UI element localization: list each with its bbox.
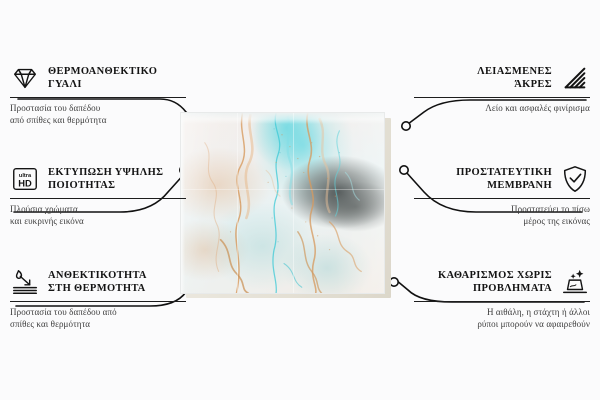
- feature-title: ΛΕΙΑΣΜΕΝΕΣ ΆΚΡΕΣ: [477, 65, 552, 91]
- marble-veins: [181, 113, 384, 293]
- feature-polished-edges[interactable]: ΛΕΙΑΣΜΕΝΕΣ ΆΚΡΕΣ Λείο και ασφαλές φινίρι…: [414, 62, 590, 114]
- infographic-stage: ΘΕΡΜΟΑΝΘΕΚΤΙΚΟ ΓΥΑΛΙ Προστασία του δαπέδ…: [0, 0, 600, 400]
- product-panel[interactable]: [180, 112, 385, 294]
- feature-divider: [10, 198, 186, 199]
- svg-text:HD: HD: [18, 179, 32, 189]
- sponge-sparkle-icon: [560, 267, 590, 297]
- feature-title: ΠΡΟΣΤΑΤΕΥΤΙΚΗ ΜΕΜΒΡΑΝΗ: [456, 166, 552, 192]
- feature-heat-resistant-glass[interactable]: ΘΕΡΜΟΑΝΘΕΚΤΙΚΟ ΓΥΑΛΙ Προστασία του δαπέδ…: [10, 62, 186, 126]
- feature-body: Προστασία του δαπέδου από σπίθες και θερ…: [10, 306, 186, 330]
- connector-node-right-1: [402, 122, 410, 130]
- ultra-hd-icon: ultra HD: [10, 164, 40, 194]
- feature-easy-cleaning[interactable]: ΚΑΘΑΡΙΣΜΟΣ ΧΩΡΙΣ ΠΡΟΒΛΗΜΑΤΑ Η αιθάλη, η …: [414, 266, 590, 330]
- feature-title: ΚΑΘΑΡΙΣΜΟΣ ΧΩΡΙΣ ΠΡΟΒΛΗΜΑΤΑ: [438, 269, 552, 295]
- feature-title: ΕΚΤΥΠΩΣΗ ΥΨΗΛΗΣ ΠΟΙΟΤΗΤΑΣ: [48, 166, 163, 192]
- feature-body: Προστατεύει το πίσω μέρος της εικόνας: [414, 203, 590, 227]
- panel-reflection-line-2: [293, 113, 294, 293]
- panel-reflection-line-1: [237, 113, 238, 293]
- hatched-triangle-icon: [560, 63, 590, 93]
- feature-title: ΑΝΘΕΚΤΙΚΟΤΗΤΑ ΣΤΗ ΘΕΡΜΟΤΗΤΑ: [48, 269, 147, 295]
- feature-divider: [414, 198, 590, 199]
- feature-body: Λείο και ασφαλές φινίρισμα: [414, 102, 590, 114]
- connector-node-right-3: [390, 278, 398, 286]
- feature-divider: [10, 301, 186, 302]
- feature-divider: [414, 301, 590, 302]
- panel-glass-front: [180, 112, 385, 294]
- feature-body: Η αιθάλη, η στάχτη ή άλλοι ρύποι μπορούν…: [414, 306, 590, 330]
- connector-node-right-2: [400, 166, 408, 174]
- feature-body: Προστασία του δαπέδου από σπίθες και θερ…: [10, 102, 186, 126]
- feature-divider: [10, 97, 186, 98]
- shield-check-icon: [560, 164, 590, 194]
- feature-body: Πλούσια χρώματα και ευκρινής εικόνα: [10, 203, 186, 227]
- feature-title: ΘΕΡΜΟΑΝΘΕΚΤΙΚΟ ΓΥΑΛΙ: [48, 65, 157, 91]
- feature-high-quality-print[interactable]: ultra HD ΕΚΤΥΠΩΣΗ ΥΨΗΛΗΣ ΠΟΙΟΤΗΤΑΣ Πλούσ…: [10, 163, 186, 227]
- panel-reflection-line-3: [181, 189, 384, 190]
- feature-protective-membrane[interactable]: ΠΡΟΣΤΑΤΕΥΤΙΚΗ ΜΕΜΒΡΑΝΗ Προστατεύει το πί…: [414, 163, 590, 227]
- feature-heat-durability[interactable]: ΑΝΘΕΚΤΙΚΟΤΗΤΑ ΣΤΗ ΘΕΡΜΟΤΗΤΑ Προστασία το…: [10, 266, 186, 330]
- flame-on-surface-icon: [10, 267, 40, 297]
- diamond-icon: [10, 63, 40, 93]
- panel-top-gloss: [181, 113, 384, 124]
- feature-divider: [414, 97, 590, 98]
